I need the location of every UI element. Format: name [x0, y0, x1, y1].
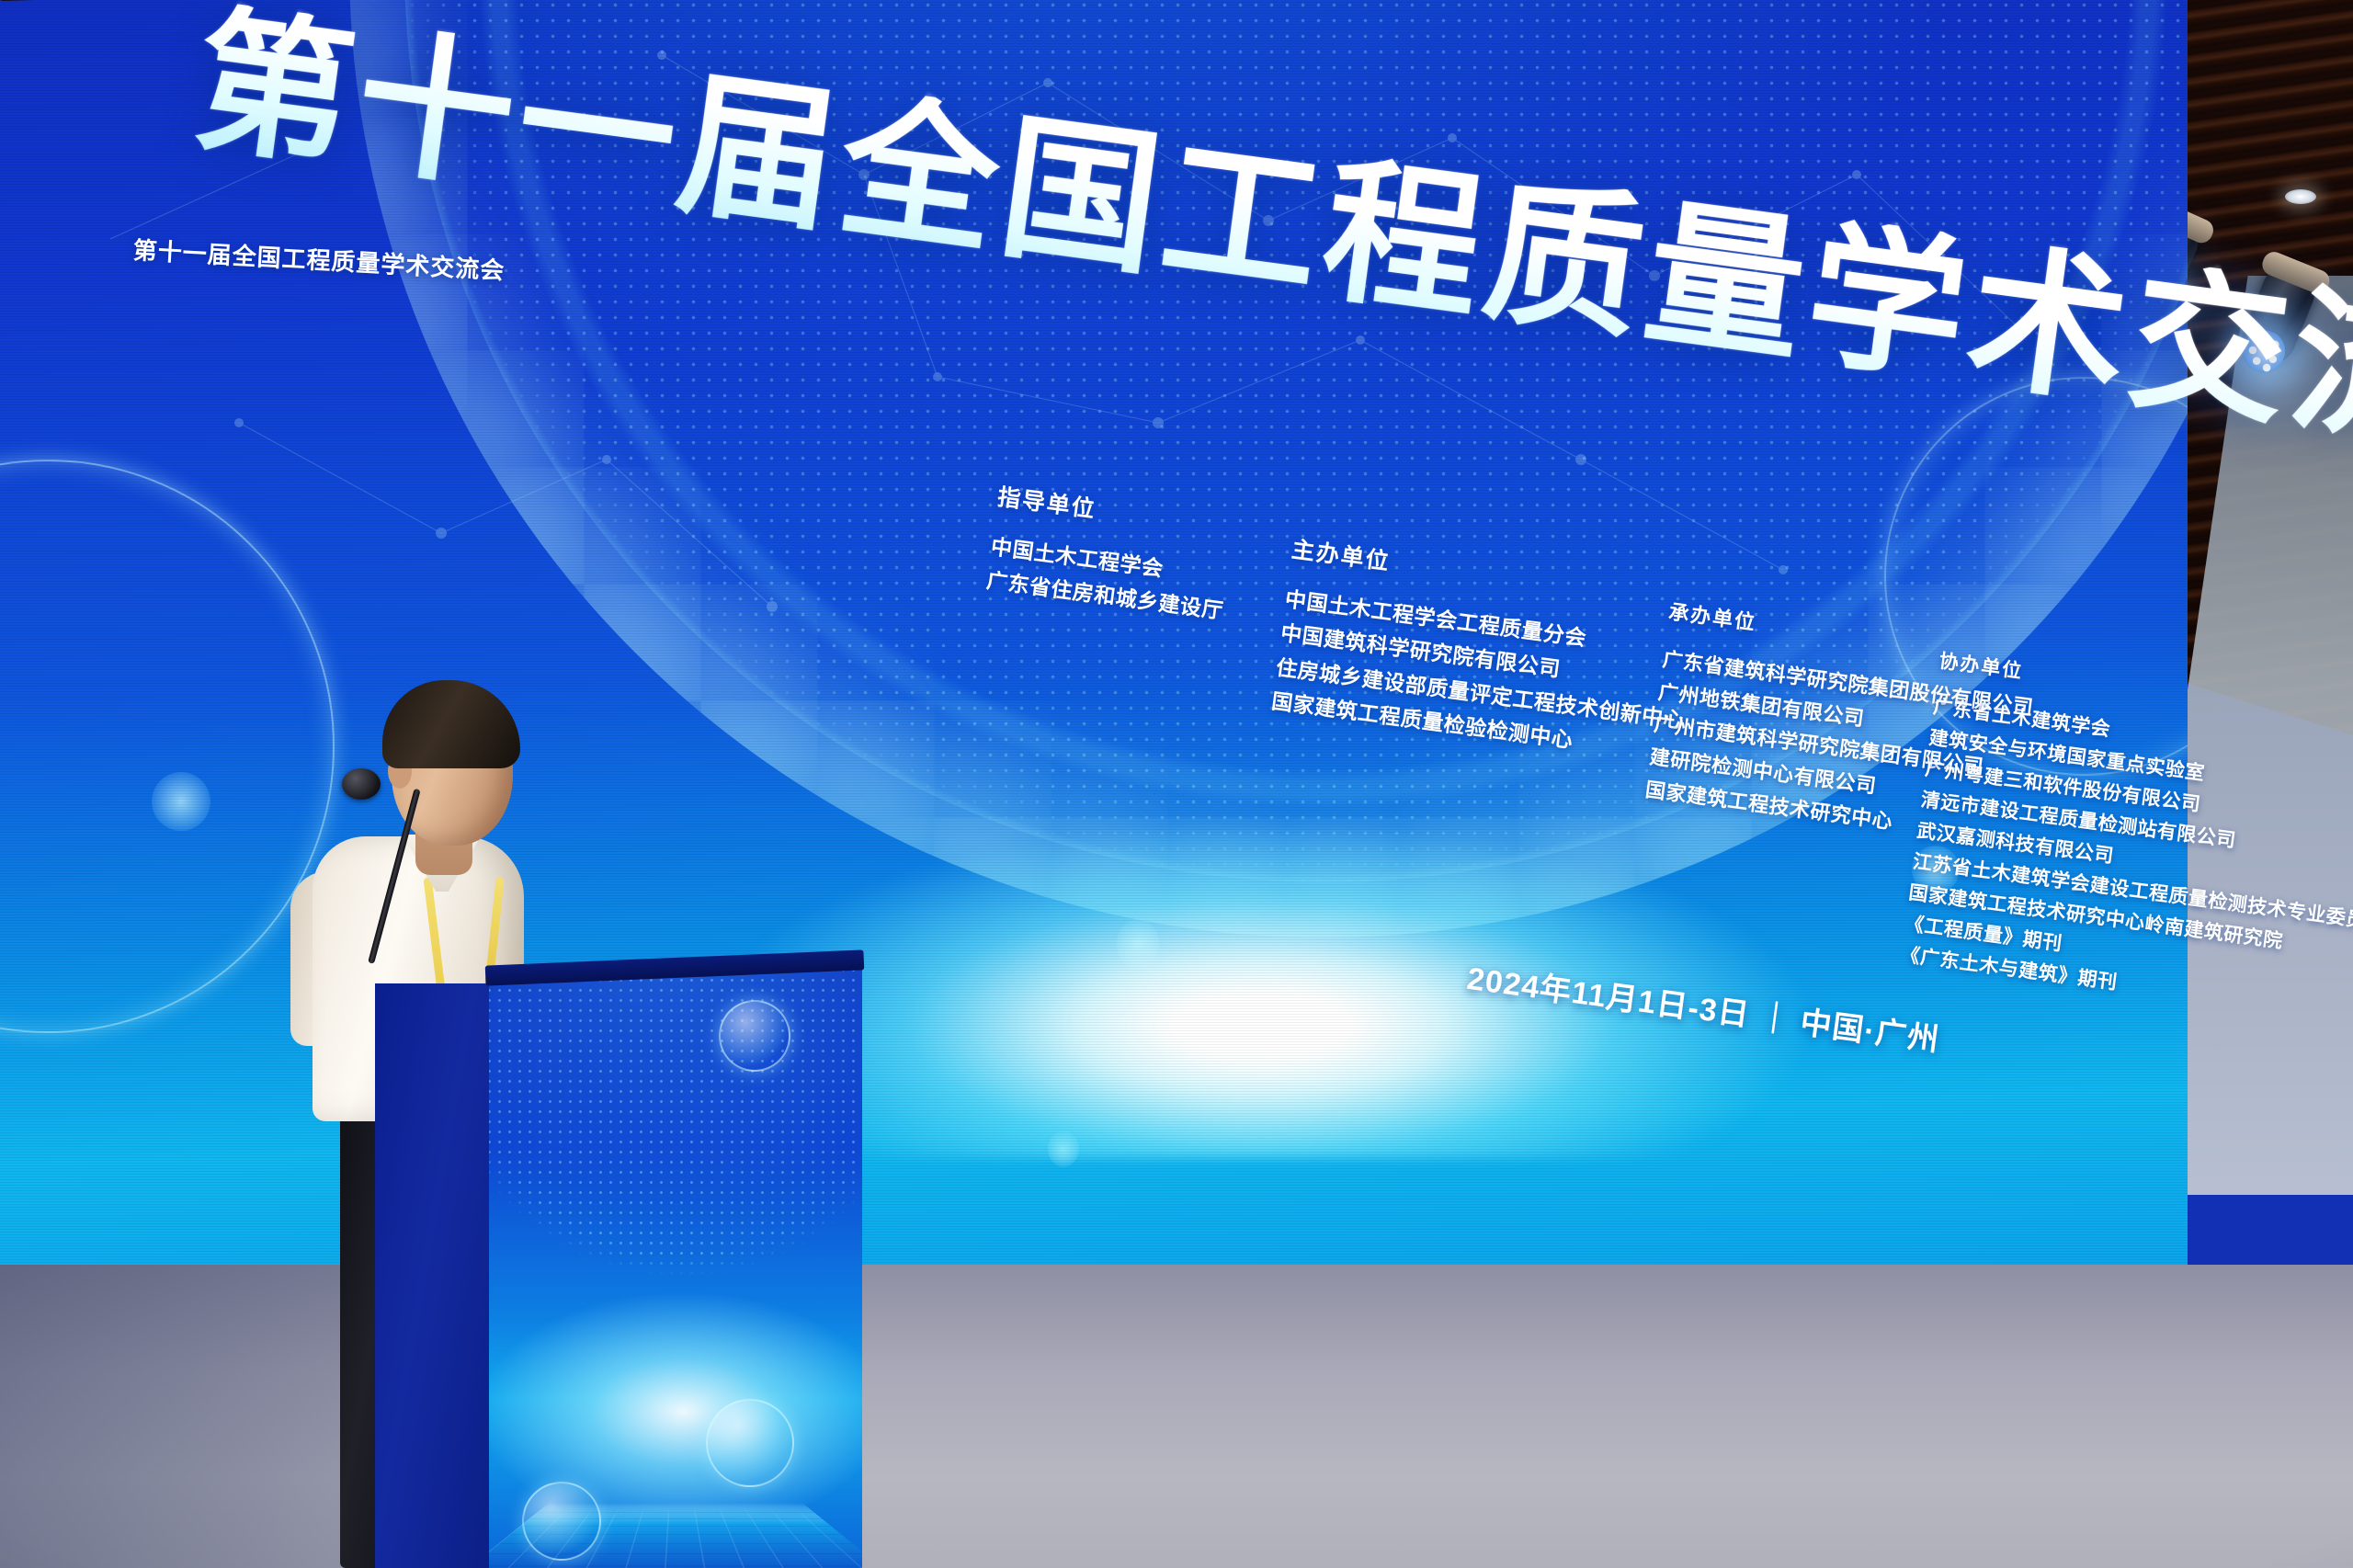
credit-heading: 指导单位 — [995, 479, 1236, 543]
glass-bubble-graphic — [719, 1000, 790, 1072]
credit-column-supporters: 协办单位 广东省土木建筑学会 建筑安全与环境国家重点实验室 广州粤建三和软件股份… — [1899, 646, 2353, 1033]
speaker-podium — [375, 967, 862, 1568]
credit-column-guiding: 指导单位 中国土木工程学会 广东省住房和城乡建设厅 — [984, 479, 1236, 629]
glass-bubble-graphic — [522, 1482, 601, 1561]
speaker-hair — [382, 680, 520, 768]
credit-column-organizers: 主办单位 中国土木工程学会工程质量分会 中国建筑科学研究院有限公司 住房城乡建设… — [1269, 531, 1702, 772]
podium-globe-dots — [489, 967, 862, 1279]
podium-side-panel — [375, 983, 493, 1568]
podium-front-panel — [489, 967, 862, 1568]
conference-photo-scene: 第十一届全国工程质量学术交流会 指导单位 中国土木工程学会 广东省住房和城乡建设… — [0, 0, 2353, 1568]
glass-bubble-graphic — [706, 1399, 794, 1487]
microphone-icon — [342, 768, 381, 800]
